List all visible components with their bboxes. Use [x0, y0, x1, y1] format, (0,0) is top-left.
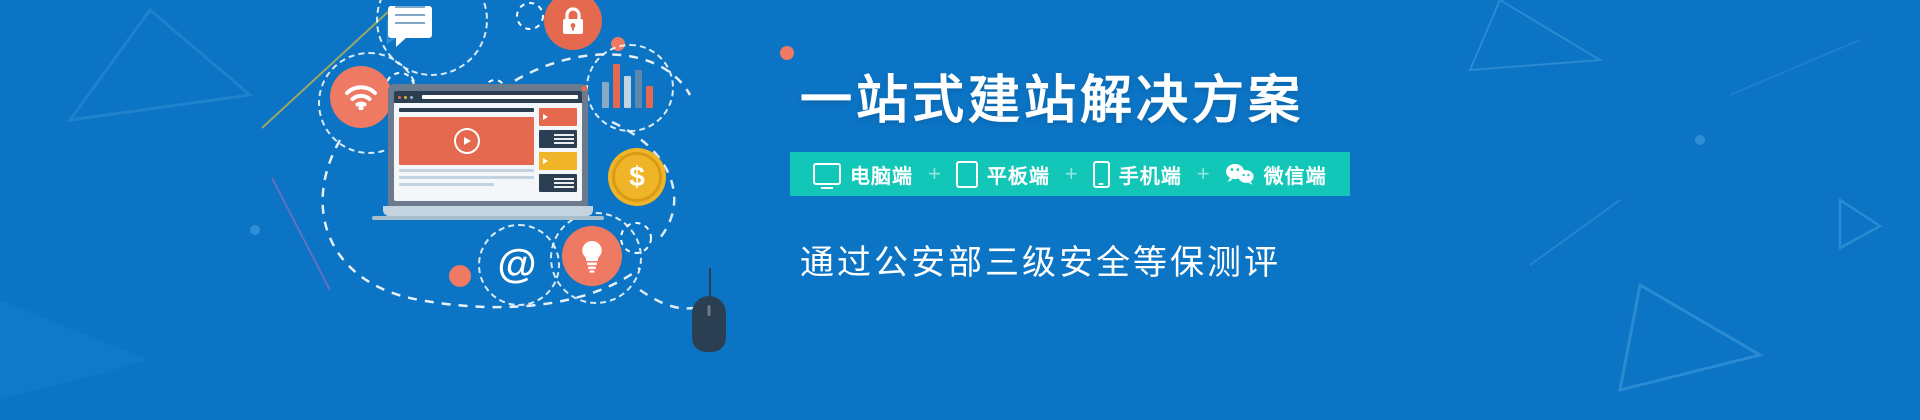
plus-separator: + [1191, 161, 1216, 187]
side-card [539, 152, 577, 170]
video-thumbnail [399, 117, 534, 165]
promo-banner: $ @ [0, 0, 1920, 420]
bar-chart-icon [602, 58, 653, 108]
address-bar [422, 95, 578, 99]
device-label: 电脑端 [850, 160, 913, 189]
content-main-column [399, 108, 534, 192]
laptop-icon [388, 84, 598, 220]
wifi-icon [330, 66, 392, 128]
lightbulb-glyph [579, 239, 605, 273]
hero-illustration: $ @ [300, 0, 780, 420]
window-dot-minimize [404, 96, 407, 99]
chat-bubble-front [388, 6, 432, 38]
laptop-screen [394, 91, 582, 201]
text-line [399, 176, 534, 179]
at-sign-icon: @ [497, 244, 537, 284]
plus-separator: + [922, 161, 947, 187]
device-label: 平板端 [987, 160, 1050, 189]
wechat-icon [1225, 163, 1255, 185]
phone-icon [1093, 161, 1110, 188]
device-label: 手机端 [1119, 160, 1182, 189]
laptop-foot [372, 216, 604, 220]
device-label: 微信端 [1264, 160, 1327, 189]
laptop-base [383, 206, 593, 216]
device-item-desktop[interactable]: 电脑端 [804, 160, 922, 189]
lightbulb-icon [562, 226, 622, 286]
play-button-icon [454, 128, 480, 154]
mini-play-icon [543, 158, 548, 164]
device-item-mobile[interactable]: 手机端 [1084, 160, 1191, 189]
dollar-glyph: $ [629, 163, 645, 191]
laptop-lid [388, 84, 588, 206]
banner-content: 一站式建站解决方案 电脑端 + 平板端 + 手机端 + [790, 0, 1490, 420]
subline: 通过公安部三级安全等保测评 [800, 235, 1281, 284]
bar-chart-bars [602, 58, 653, 108]
side-card [539, 108, 577, 126]
mouse-icon [692, 296, 726, 352]
mini-text-lines [554, 178, 574, 190]
play-triangle [464, 137, 471, 145]
plus-separator: + [1059, 161, 1084, 187]
window-dot-maximize [410, 96, 413, 99]
side-card [539, 130, 577, 148]
lock-icon [544, 0, 602, 50]
text-line [399, 169, 534, 172]
page-content [394, 103, 582, 197]
chat-bubble-icon [388, 0, 468, 52]
wifi-glyph [344, 84, 378, 110]
heading-placeholder [399, 108, 534, 112]
mini-play-icon [543, 114, 548, 120]
text-line [399, 183, 494, 186]
tablet-icon [956, 161, 978, 188]
content-side-column [539, 108, 577, 192]
device-support-bar: 电脑端 + 平板端 + 手机端 + [790, 152, 1350, 196]
headline: 一站式建站解决方案 [800, 58, 1304, 133]
monitor-icon [813, 163, 841, 185]
device-item-tablet[interactable]: 平板端 [947, 160, 1059, 189]
coin-inner: $ [612, 152, 662, 202]
mini-text-lines [554, 134, 574, 146]
window-dot-close [398, 96, 401, 99]
side-card [539, 174, 577, 192]
at-glyph: @ [497, 244, 536, 284]
browser-chrome-bar [394, 91, 582, 103]
device-item-wechat[interactable]: 微信端 [1216, 160, 1336, 189]
coin-dollar-icon: $ [608, 148, 666, 206]
recording-dot [582, 86, 587, 91]
lock-glyph [560, 6, 586, 36]
